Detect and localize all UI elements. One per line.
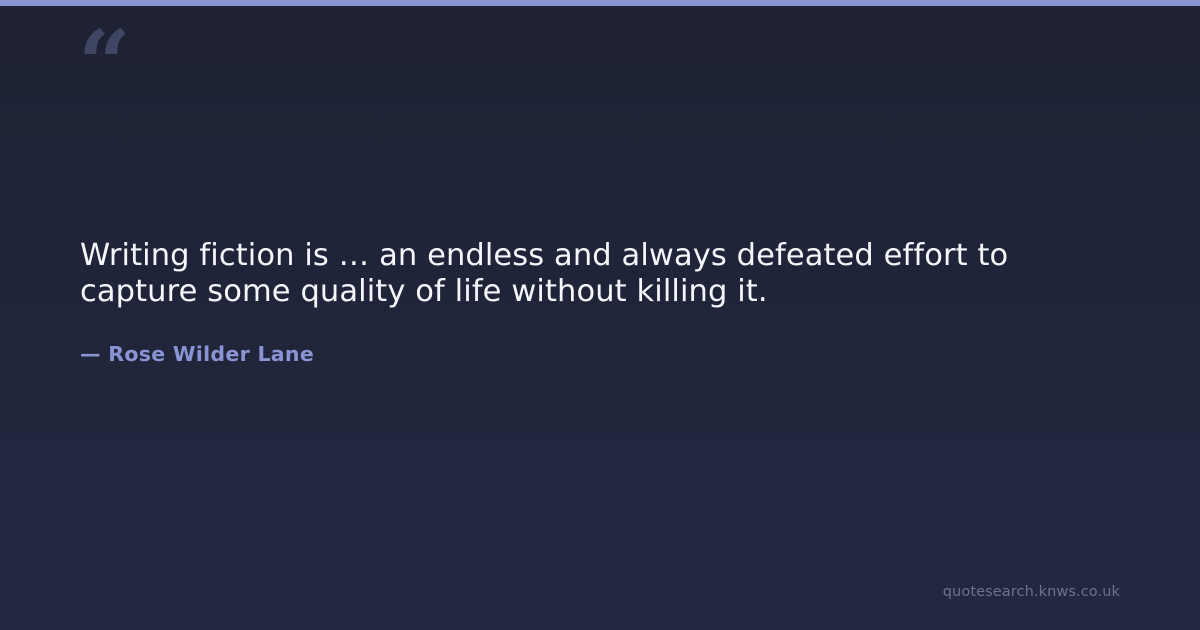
quote-card: “ Writing fiction is … an endless and al… (0, 0, 1200, 630)
source-website-label: quotesearch.knws.co.uk (943, 584, 1120, 600)
quotation-mark-icon: “ (78, 18, 129, 110)
quote-attribution: — Rose Wilder Lane (80, 311, 1120, 366)
quote-content-block: Writing fiction is … an endless and alwa… (80, 238, 1120, 366)
top-accent-bar (0, 0, 1200, 6)
quote-text: Writing fiction is … an endless and alwa… (80, 238, 1080, 311)
